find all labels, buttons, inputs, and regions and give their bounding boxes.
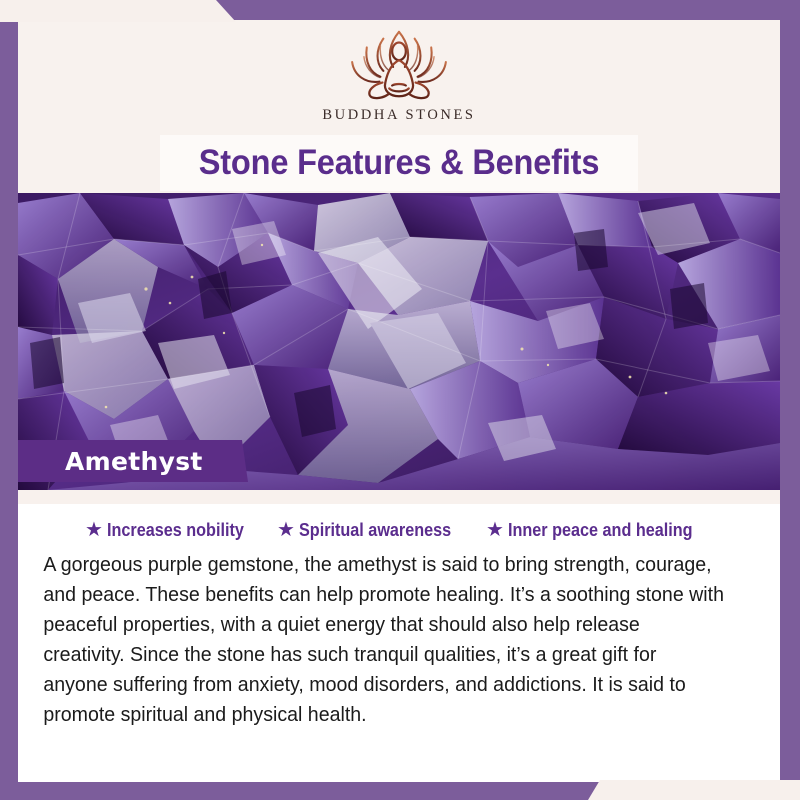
lotus-meditation-icon — [340, 24, 458, 106]
stone-name-ribbon: Amethyst — [18, 440, 248, 482]
title-band: Stone Features & Benefits — [18, 138, 780, 193]
star-icon: ★ — [486, 520, 504, 540]
stone-name-label: Amethyst — [65, 447, 203, 476]
card-body: BUDDHA STONES Stone Features & Benefits — [18, 20, 780, 782]
stone-content: ★ Increases nobility ★ Spiritual awarene… — [18, 504, 780, 782]
benefit-label: Increases nobility — [107, 520, 244, 541]
brand-header: BUDDHA STONES — [18, 20, 780, 138]
infographic-page: BUDDHA STONES Stone Features & Benefits — [0, 0, 800, 800]
benefit-item: ★ Increases nobility — [85, 520, 259, 541]
stone-description: A gorgeous purple gemstone, the amethyst… — [30, 550, 735, 730]
star-icon: ★ — [85, 520, 103, 540]
frame-notch-bottom-right — [588, 780, 800, 800]
benefits-list: ★ Increases nobility ★ Spiritual awarene… — [30, 520, 768, 541]
brand-name: BUDDHA STONES — [322, 107, 475, 124]
benefit-item: ★ Spiritual awareness — [277, 520, 468, 541]
benefit-item: ★ Inner peace and healing — [486, 520, 713, 541]
photo-underline — [18, 490, 780, 504]
benefit-label: Inner peace and healing — [508, 520, 693, 541]
frame-notch-top-left — [0, 0, 236, 22]
logo-block: BUDDHA STONES — [18, 24, 780, 124]
stone-photo: Amethyst — [18, 193, 780, 490]
benefit-label: Spiritual awareness — [299, 520, 451, 541]
page-title: Stone Features & Benefits — [45, 139, 754, 187]
star-icon: ★ — [277, 520, 295, 540]
